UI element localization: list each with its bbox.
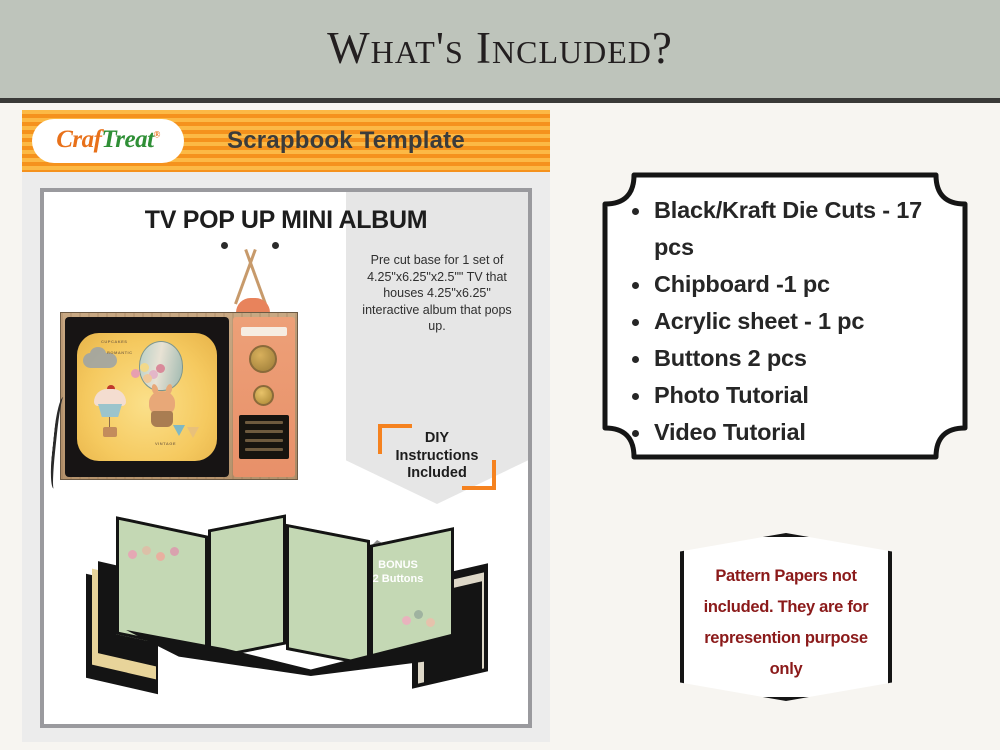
diy-badge-line-2: Instructions — [396, 448, 479, 464]
tv-screen-artwork: CUPCAKES ROMANTIC VINTAGE — [77, 333, 217, 461]
album-fold-panel — [116, 516, 208, 654]
brand-logo-text: CrafTreat® — [56, 126, 160, 154]
included-item: Video Tutorial — [630, 414, 950, 451]
bonus-label: BONUS — [378, 559, 418, 571]
bunting-icon — [173, 425, 207, 435]
tv-antenna-right-icon — [244, 249, 267, 305]
flower-cluster-icon — [129, 361, 165, 383]
tv-panel-banner — [241, 327, 287, 336]
brand-logo: CrafTreat® — [32, 119, 184, 163]
included-item: Black/Kraft Die Cuts - 17 pcs — [630, 192, 950, 266]
screen-label-2: ROMANTIC — [107, 350, 133, 355]
brand-bar-title: Scrapbook Template — [227, 127, 465, 155]
product-title: TV POP UP MINI ALBUM — [44, 206, 528, 235]
balloon-basket-icon — [151, 411, 173, 427]
cupcake-balloon-icon — [91, 385, 129, 419]
tv-body: CUPCAKES ROMANTIC VINTAGE — [60, 312, 298, 480]
diy-badge-line-3: Included — [407, 465, 467, 481]
included-item: Acrylic sheet - 1 pc — [630, 303, 950, 340]
product-description: Pre cut base for 1 set of 4.25"x6.25"x2.… — [354, 252, 520, 335]
bonus-detail: 2 Buttons — [373, 573, 424, 585]
tv-screen-bezel: CUPCAKES ROMANTIC VINTAGE — [65, 317, 229, 477]
brand-logo-part-second: Treat — [101, 126, 153, 153]
registered-trademark-icon: ® — [154, 130, 160, 140]
tv-speaker-grille — [239, 415, 289, 459]
brand-bar: CrafTreat® Scrapbook Template — [22, 110, 550, 172]
cloud-icon — [83, 353, 117, 368]
bonus-badge-text: BONUS 2 Buttons — [340, 558, 456, 586]
album-fold-panel — [286, 524, 370, 666]
tv-antenna-tip-left — [221, 242, 228, 249]
screen-label-1: CUPCAKES — [101, 339, 127, 344]
tv-control-panel — [233, 317, 295, 477]
included-item: Buttons 2 pcs — [630, 340, 950, 377]
included-items-list: Black/Kraft Die Cuts - 17 pcs Chipboard … — [630, 192, 950, 451]
product-card: CrafTreat® Scrapbook Template TV POP UP … — [22, 110, 550, 742]
included-item: Photo Tutorial — [630, 377, 950, 414]
tv-antenna-tip-right — [272, 242, 279, 249]
tv-knob-small-icon — [253, 385, 274, 406]
diy-instructions-badge: DIY Instructions Included — [378, 424, 496, 490]
disclaimer-text: Pattern Papers not included. They are fo… — [692, 561, 880, 685]
screen-label-3: VINTAGE — [155, 441, 176, 446]
album-floral-accent — [126, 544, 186, 566]
product-sheet: TV POP UP MINI ALBUM Pre cut base for 1 … — [40, 188, 532, 728]
tv-knob-large-icon — [249, 345, 277, 373]
tv-product-photo: CUPCAKES ROMANTIC VINTAGE — [58, 240, 308, 490]
included-items-panel: Black/Kraft Die Cuts - 17 pcs Chipboard … — [600, 170, 970, 462]
diy-badge-text: DIY Instructions Included — [378, 430, 496, 483]
album-floral-accent — [402, 606, 448, 632]
diy-badge-line-1: DIY — [425, 430, 449, 446]
brand-logo-part-first: Craf — [56, 126, 101, 153]
included-item: Chipboard -1 pc — [630, 266, 950, 303]
album-fold-panel — [208, 514, 286, 659]
accordion-album-photo — [82, 510, 502, 710]
disclaimer-box: Pattern Papers not included. They are fo… — [680, 533, 892, 701]
page-title: What's Included? — [0, 22, 1000, 74]
